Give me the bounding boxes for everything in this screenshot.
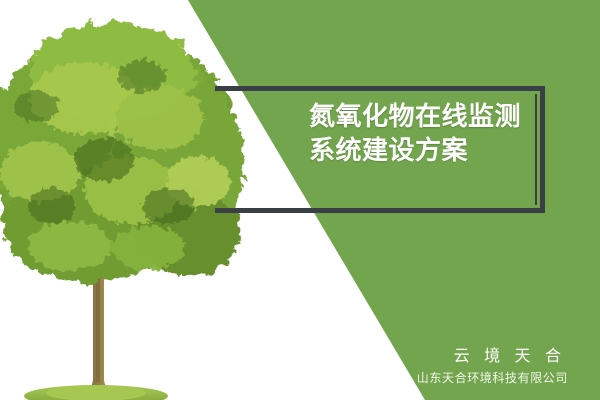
tree-branches — [42, 198, 164, 278]
title-line-2: 系统建设方案 — [309, 133, 549, 167]
tree-canopy-shadows — [14, 60, 194, 224]
tree-trunk — [85, 260, 112, 393]
tree-canopy — [0, 22, 244, 282]
brand-name: 云 境 天 合 — [417, 346, 568, 368]
tree-canopy-highlights — [0, 62, 230, 270]
title-line-1: 氮氧化物在线监测 — [309, 99, 549, 133]
brand-company-name: 山东天合环境科技有限公司 — [417, 368, 568, 388]
presentation-cover-slide: 氮氧化物在线监测 系统建设方案 云 境 天 合 山东天合环境科技有限公司 — [0, 0, 600, 400]
tree-grass-base — [24, 385, 168, 400]
page-title: 氮氧化物在线监测 系统建设方案 — [309, 99, 549, 167]
footer-brand-block: 云 境 天 合 山东天合环境科技有限公司 — [417, 346, 568, 388]
